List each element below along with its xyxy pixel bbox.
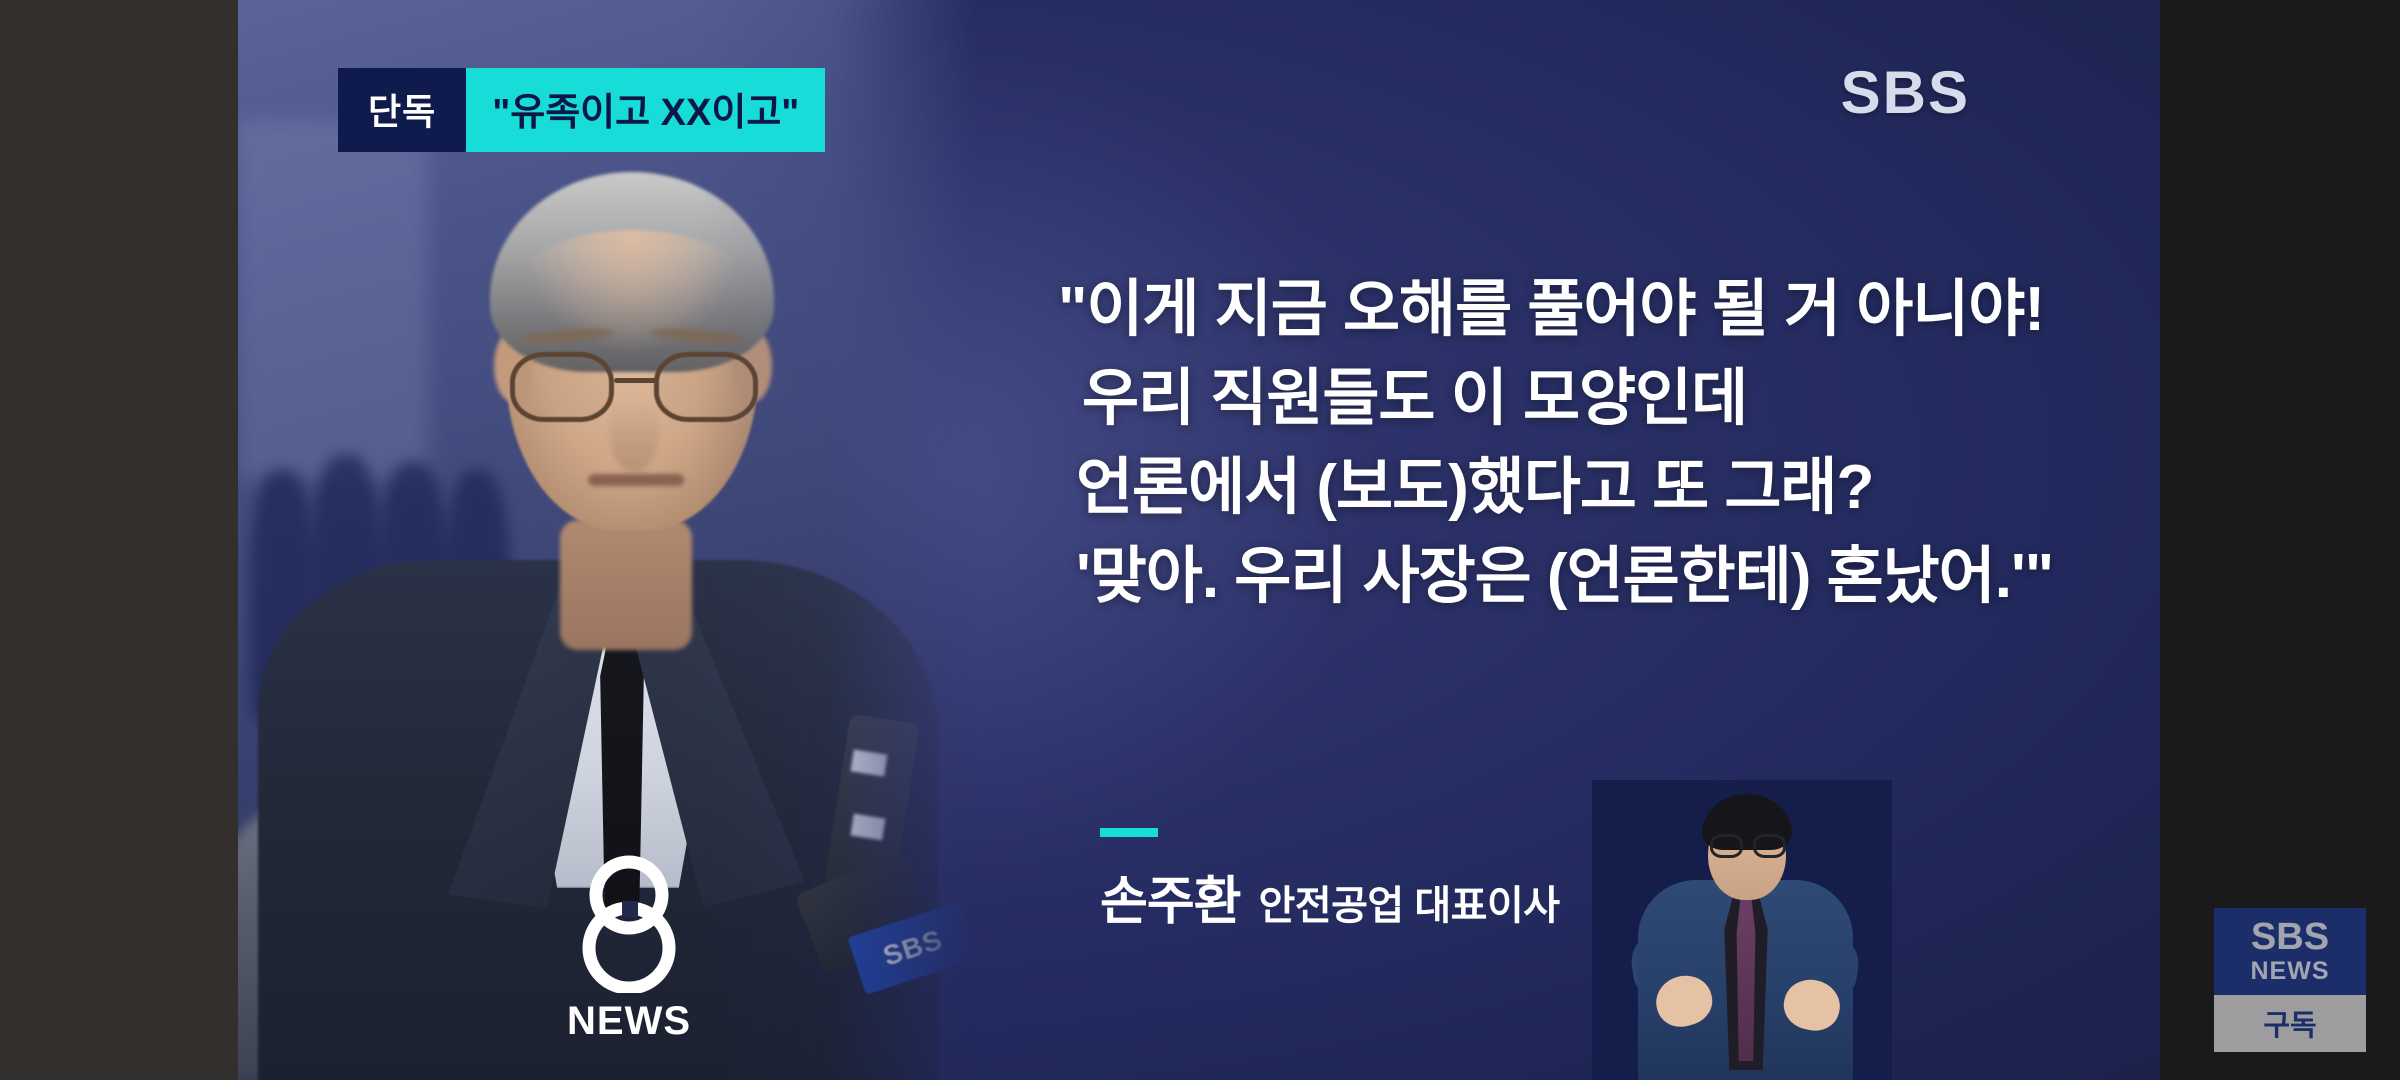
sign-language-interpreter (1592, 780, 1892, 1080)
broadcast-canvas: SBS 단독 "유족이고 XX이고" SBS "이게 지금 오해를 풀어야 될 … (238, 0, 2160, 1080)
interpreter-glasses (1710, 834, 1786, 858)
subscribe-brand-block: SBS NEWS (2214, 908, 2366, 995)
letterbox-left (0, 0, 238, 1080)
glasses-lens-left (510, 352, 614, 422)
subscribe-button[interactable]: 구독 (2214, 995, 2366, 1052)
exclusive-badge: 단독 (338, 68, 466, 152)
subject-neck (560, 520, 692, 650)
speaker-name: 손주환 (1100, 859, 1241, 934)
speaker-title: 안전공업 대표이사 (1259, 873, 1560, 931)
quote-line: 우리 직원들도 이 모양인데 (1082, 361, 2160, 438)
broadcast-frame: SBS 단독 "유족이고 XX이고" SBS "이게 지금 오해를 풀어야 될 … (0, 0, 2400, 1080)
sbs-logo: SBS (1841, 58, 1970, 127)
subscribe-button-label: 구독 (2263, 1010, 2316, 1042)
interpreter-lens-left (1710, 834, 1743, 858)
program-bug-label: NEWS (567, 999, 691, 1044)
quote-attribution: 손주환 안전공업 대표이사 (1100, 828, 1560, 934)
subscribe-sub-brand: NEWS (2214, 956, 2366, 987)
quote-line: '맞아. 우리 사장은 (언론한테) 혼났어.'" (1076, 539, 2160, 616)
glasses-lens-right (654, 352, 758, 422)
subject-nose (610, 400, 658, 472)
microphone-label-tag (850, 814, 885, 841)
quote-line: "이게 지금 오해를 풀어야 될 거 아니야! (1058, 272, 2160, 349)
program-bug: NEWS (554, 853, 704, 1044)
microphone-flag-label: SBS (879, 923, 947, 972)
subscribe-watermark[interactable]: SBS NEWS 구독 (2214, 908, 2366, 1052)
glasses-bridge (614, 378, 658, 383)
headline-badge: "유족이고 XX이고" (466, 68, 825, 152)
headline-badge-group: 단독 "유족이고 XX이고" (338, 68, 825, 152)
subject-mouth (588, 474, 684, 486)
microphone-cluster: SBS (800, 718, 978, 1018)
interpreter-lens-right (1753, 834, 1786, 858)
subscribe-brand: SBS (2214, 918, 2366, 956)
quote-line: 언론에서 (보도)했다고 또 그래? (1076, 450, 2160, 527)
eight-logo-icon (574, 853, 684, 993)
accent-dash (1100, 828, 1158, 837)
quote-block: "이게 지금 오해를 풀어야 될 거 아니야! 우리 직원들도 이 모양인데 언… (1058, 272, 2160, 628)
attribution-row: 손주환 안전공업 대표이사 (1100, 859, 1560, 934)
